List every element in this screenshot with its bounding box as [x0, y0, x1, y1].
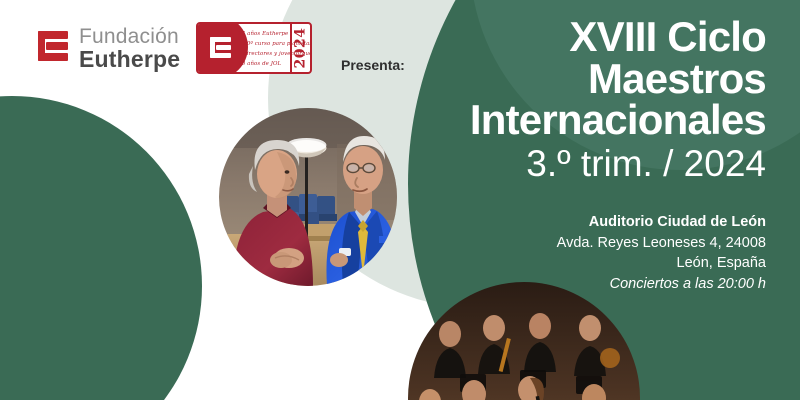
decorative-circle-green-left: [0, 96, 202, 400]
stamp-line-2: 20º curso para pianistas,: [238, 39, 292, 49]
eutherpe-logo-mark-icon: [34, 29, 68, 67]
title-line-2: Maestros: [346, 58, 766, 100]
foundation-logo: Fundación Eutherpe: [34, 26, 180, 71]
title-line-3: Internacionales: [346, 99, 766, 141]
concert-time: Conciertos a las 20:00 h: [346, 274, 766, 295]
stamp-text-lines: 25 años Eutherpe 20º curso para pianista…: [238, 29, 292, 69]
title-line-4-term: 3.º trim. / 2024: [346, 141, 766, 186]
stamp-year-tab: 2024: [290, 24, 309, 72]
poster-header: Fundación Eutherpe 25 años Eutherpe 20º …: [34, 22, 312, 74]
foundation-name-line1: Fundación: [79, 26, 180, 47]
venue-address: Avda. Reyes Leoneses 4, 24008: [346, 233, 766, 254]
poster-title-block: XVIII Ciclo Maestros Internacionales 3.º…: [346, 16, 766, 186]
venue-info-block: Auditorio Ciudad de León Avda. Reyes Leo…: [346, 212, 766, 294]
stamp-line-4: 10 años de JOL: [238, 59, 292, 69]
foundation-wordmark: Fundación Eutherpe: [79, 26, 180, 71]
anniversary-stamp: 25 años Eutherpe 20º curso para pianista…: [196, 22, 312, 74]
orchestra-photo-illustration: [408, 282, 640, 400]
venue-city: León, España: [346, 253, 766, 274]
stamp-year-label: 2024: [293, 28, 309, 69]
youth-orchestra-photo: [408, 282, 640, 400]
stamp-line-3: directores y joven orquesta: [238, 49, 292, 59]
stamp-line-1: 25 años Eutherpe: [238, 29, 292, 39]
foundation-name-line2: Eutherpe: [79, 48, 180, 71]
eutherpe-logo-mark-icon-small: [208, 36, 232, 60]
concert-poster: Fundación Eutherpe 25 años Eutherpe 20º …: [0, 0, 800, 400]
title-line-1: XVIII Ciclo: [346, 16, 766, 58]
venue-name: Auditorio Ciudad de León: [346, 212, 766, 233]
